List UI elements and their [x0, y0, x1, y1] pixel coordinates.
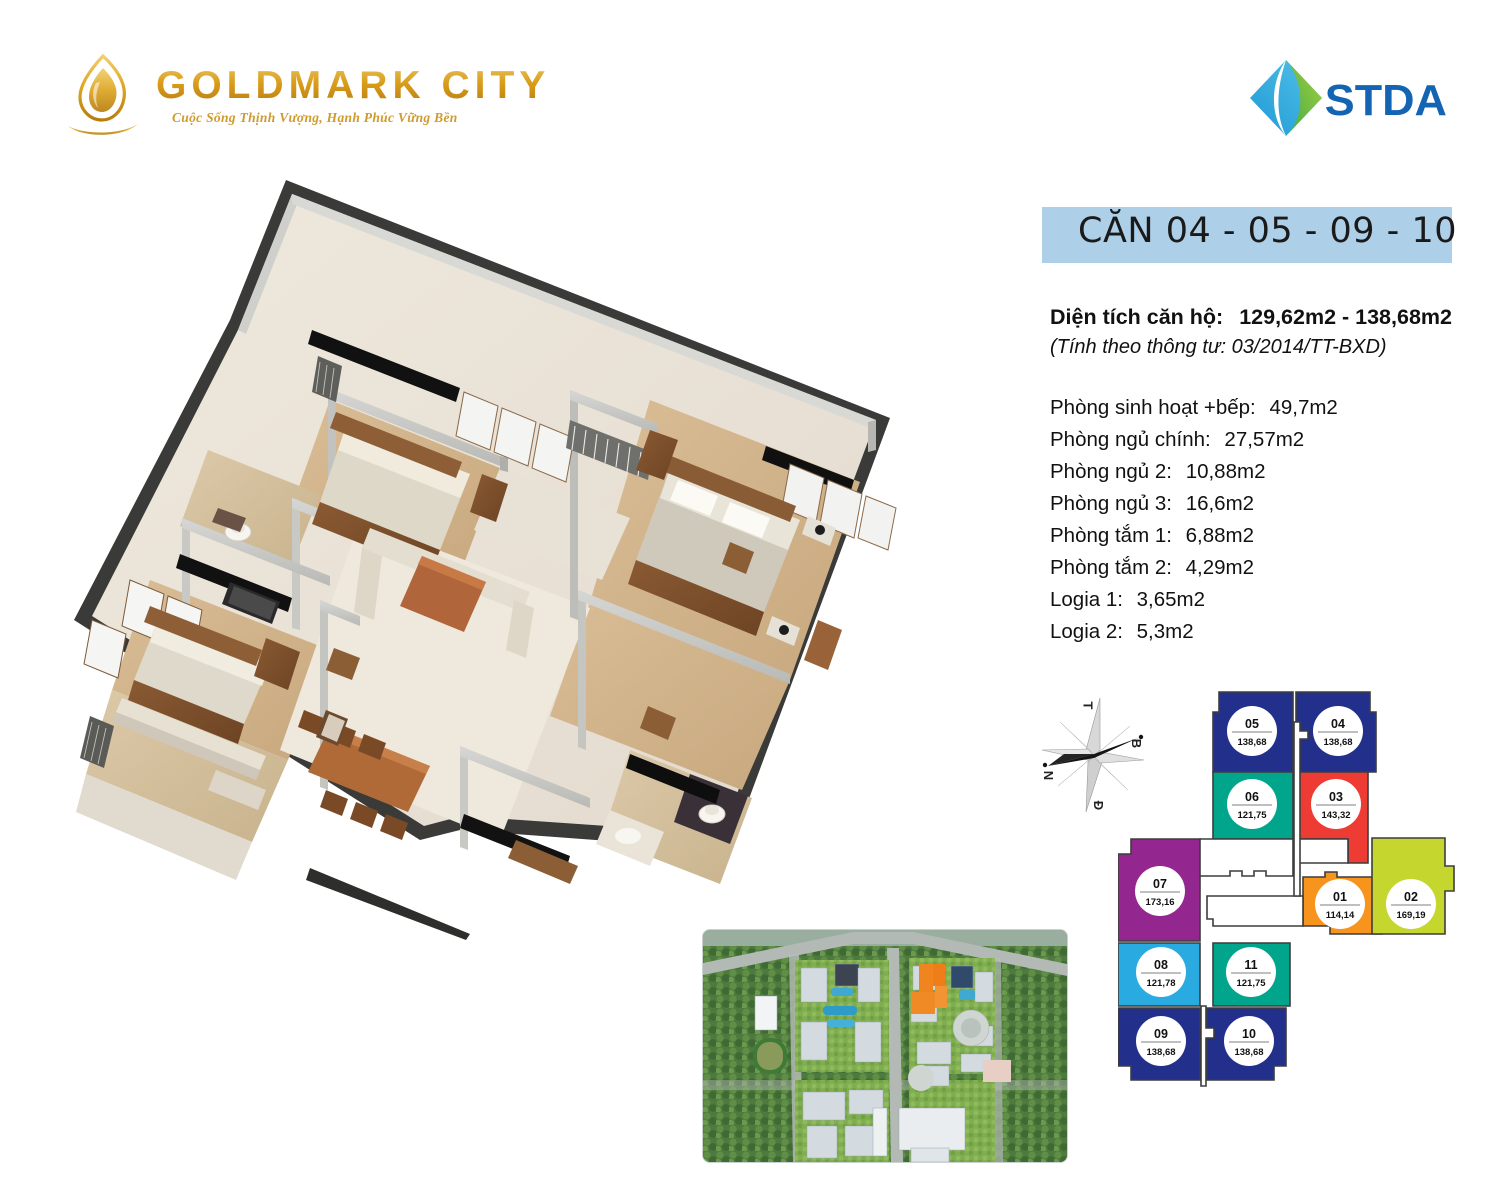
room-label: Phòng sinh hoạt +bếp:	[1050, 396, 1256, 419]
room-row: Phòng ngủ 2: 10,88m2	[1050, 456, 1480, 488]
apartment-area-label: Diện tích căn hộ:	[1050, 305, 1223, 329]
keyplan-badge-03-area: 143,32	[1321, 810, 1350, 821]
goldmark-tagline: Cuộc Sống Thịnh Vượng, Hạnh Phúc Vững Bề…	[172, 110, 458, 126]
room-area-list: Phòng sinh hoạt +bếp: 49,7m2 Phòng ngủ c…	[1050, 392, 1480, 648]
goldmark-flame-icon	[60, 52, 144, 138]
keyplan-badge-06[interactable]: 06 121,75	[1227, 779, 1277, 829]
keyplan-badge-09-area: 138,68	[1146, 1047, 1175, 1058]
room-value: 10,88m2	[1178, 460, 1266, 483]
keyplan-badge-08[interactable]: 08 121,78	[1136, 947, 1186, 997]
masterplan-aerial-map[interactable]	[703, 930, 1067, 1162]
keyplan-corridor-mid	[1296, 839, 1348, 863]
keyplan-badge-05[interactable]: 05 138,68	[1227, 706, 1277, 756]
room-row: Logia 1: 3,65m2	[1050, 584, 1480, 616]
keyplan-badge-11[interactable]: 11 121,75	[1226, 947, 1276, 997]
keyplan-badge-07-area: 173,16	[1145, 897, 1174, 908]
keyplan-badge-10-id: 10	[1242, 1027, 1256, 1041]
room-value: 4,29m2	[1178, 556, 1254, 579]
room-value: 5,3m2	[1129, 620, 1194, 643]
room-row: Phòng ngủ 3: 16,6m2	[1050, 488, 1480, 520]
room-value: 27,57m2	[1216, 428, 1304, 451]
keyplan-badge-02-id: 02	[1404, 890, 1418, 904]
room-row: Phòng tắm 1: 6,88m2	[1050, 520, 1480, 552]
keyplan-badge-08-id: 08	[1154, 958, 1168, 972]
key-plan-svg[interactable]: 05 138,68 04 138,68 06 121,75 03 143,32	[1118, 676, 1463, 1096]
keyplan-badge-01[interactable]: 01 114,14	[1315, 879, 1365, 929]
keyplan-badge-07-id: 07	[1153, 877, 1167, 891]
keyplan-badge-11-area: 121,75	[1236, 978, 1266, 989]
room-row: Phòng sinh hoạt +bếp: 49,7m2	[1050, 392, 1480, 424]
apartment-area-value: 129,62m2 - 138,68m2	[1229, 305, 1452, 329]
keyplan-badge-08-area: 121,78	[1146, 978, 1175, 989]
goldmark-city-logo: GOLDMARK CITY Cuộc Sống Thịnh Vượng, Hạn…	[60, 52, 460, 147]
room-label: Logia 2:	[1050, 620, 1123, 643]
keyplan-badge-11-id: 11	[1244, 958, 1257, 972]
toilet-fixture-2	[699, 805, 725, 823]
keyplan-badge-04[interactable]: 04 138,68	[1313, 706, 1363, 756]
keyplan-badge-03[interactable]: 03 143,32	[1311, 779, 1361, 829]
keyplan-badge-07[interactable]: 07 173,16	[1135, 866, 1185, 916]
keyplan-badge-05-area: 138,68	[1237, 737, 1266, 748]
keyplan-badge-01-id: 01	[1333, 890, 1347, 904]
keyplan-badge-05-id: 05	[1245, 717, 1259, 731]
keyplan-corridor-upper	[1200, 839, 1293, 876]
floorplan-svg[interactable]	[30, 150, 980, 940]
keyplan-badge-10[interactable]: 10 138,68	[1224, 1016, 1274, 1066]
room-label: Phòng ngủ 3:	[1050, 492, 1172, 515]
keyplan-badge-01-area: 114,14	[1326, 910, 1355, 921]
compass-south-label: N	[1041, 771, 1056, 780]
room-label: Phòng tắm 2:	[1050, 556, 1172, 579]
unit-title-band: CĂN 04 - 05 - 09 - 10	[1042, 207, 1452, 263]
stda-logo: STDA	[1248, 58, 1463, 142]
compass-east-label: Đ	[1091, 801, 1106, 810]
room-value: 3,65m2	[1129, 588, 1205, 611]
room-value: 6,88m2	[1178, 524, 1254, 547]
keyplan-badge-04-area: 138,68	[1323, 737, 1352, 748]
room-label: Logia 1:	[1050, 588, 1123, 611]
keyplan-badge-02-area: 169,19	[1396, 910, 1425, 921]
room-label: Phòng ngủ chính:	[1050, 428, 1211, 451]
keyplan-badge-04-id: 04	[1331, 717, 1345, 731]
room-label: Phòng tắm 1:	[1050, 524, 1172, 547]
keyplan-badge-06-id: 06	[1245, 790, 1259, 804]
masterplan-svg[interactable]	[703, 930, 1067, 1162]
keyplan-badge-03-id: 03	[1329, 790, 1343, 804]
room-row: Logia 2: 5,3m2	[1050, 616, 1480, 648]
room-label: Phòng ngủ 2:	[1050, 460, 1172, 483]
room-row: Phòng tắm 2: 4,29m2	[1050, 552, 1480, 584]
apartment-3d-floorplan[interactable]	[30, 150, 980, 940]
room-row: Phòng ngủ chính: 27,57m2	[1050, 424, 1480, 456]
keyplan-badge-02[interactable]: 02 169,19	[1386, 879, 1436, 929]
floor-key-plan[interactable]: 05 138,68 04 138,68 06 121,75 03 143,32	[1118, 676, 1463, 1096]
compass-west-label: T	[1080, 702, 1095, 710]
goldmark-wordmark: GOLDMARK CITY	[156, 64, 550, 108]
circular-note: (Tính theo thông tư: 03/2014/TT-BXD)	[1050, 336, 1490, 359]
keyplan-badge-09[interactable]: 09 138,68	[1136, 1016, 1186, 1066]
stda-diamond-icon	[1248, 58, 1324, 138]
keyplan-badge-06-area: 121,75	[1237, 810, 1267, 821]
apartment-area-line: Diện tích căn hộ: 129,62m2 - 138,68m2	[1050, 305, 1490, 330]
keyplan-corridor-lower	[1207, 896, 1303, 926]
room-value: 49,7m2	[1261, 396, 1337, 419]
stda-wordmark: STDA	[1325, 76, 1447, 126]
keyplan-badge-09-id: 09	[1154, 1027, 1168, 1041]
room-value: 16,6m2	[1178, 492, 1254, 515]
keyplan-badge-10-area: 138,68	[1234, 1047, 1263, 1058]
page-title: CĂN 04 - 05 - 09 - 10	[1078, 211, 1457, 251]
